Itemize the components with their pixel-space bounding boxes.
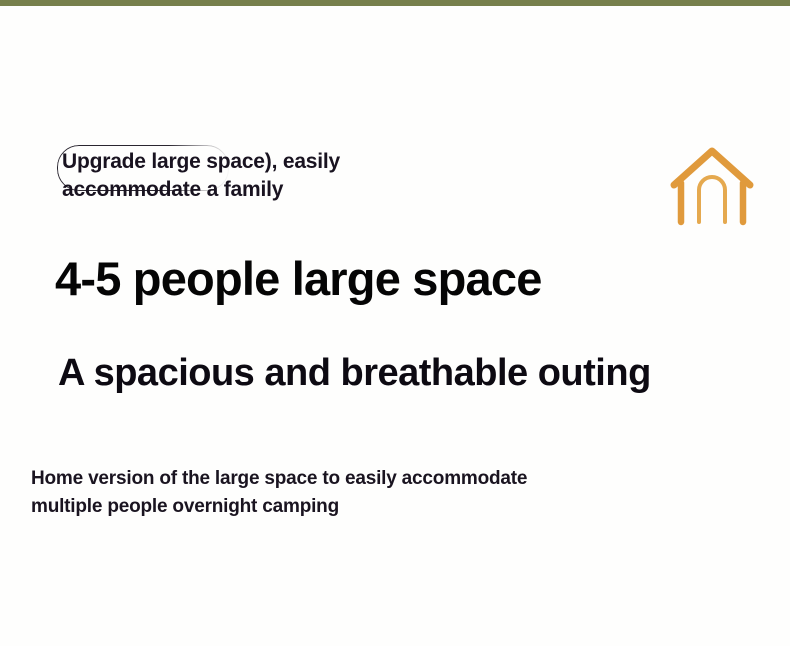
badge-text: Upgrade large space), easily accommodate… — [62, 148, 462, 204]
house-roof-path — [674, 151, 750, 185]
house-icon-graphic — [668, 145, 756, 227]
body-line-2: multiple people overnight camping — [31, 493, 691, 521]
eyebrow-badge: Upgrade large space), easily accommodate… — [62, 148, 532, 204]
house-door-arch — [699, 177, 725, 222]
body-line-1: Home version of the large space to easil… — [31, 468, 527, 489]
product-feature-banner: Upgrade large space), easily accommodate… — [0, 0, 790, 646]
headline: 4-5 people large space — [55, 255, 542, 302]
badge-line-1: Upgrade large space), easily — [62, 150, 340, 173]
top-accent-bar — [0, 0, 790, 6]
subheadline: A spacious and breathable outing — [58, 354, 651, 392]
badge-line-2: accommodate a family — [62, 176, 462, 204]
body-copy: Home version of the large space to easil… — [31, 465, 691, 520]
house-icon — [668, 145, 756, 227]
